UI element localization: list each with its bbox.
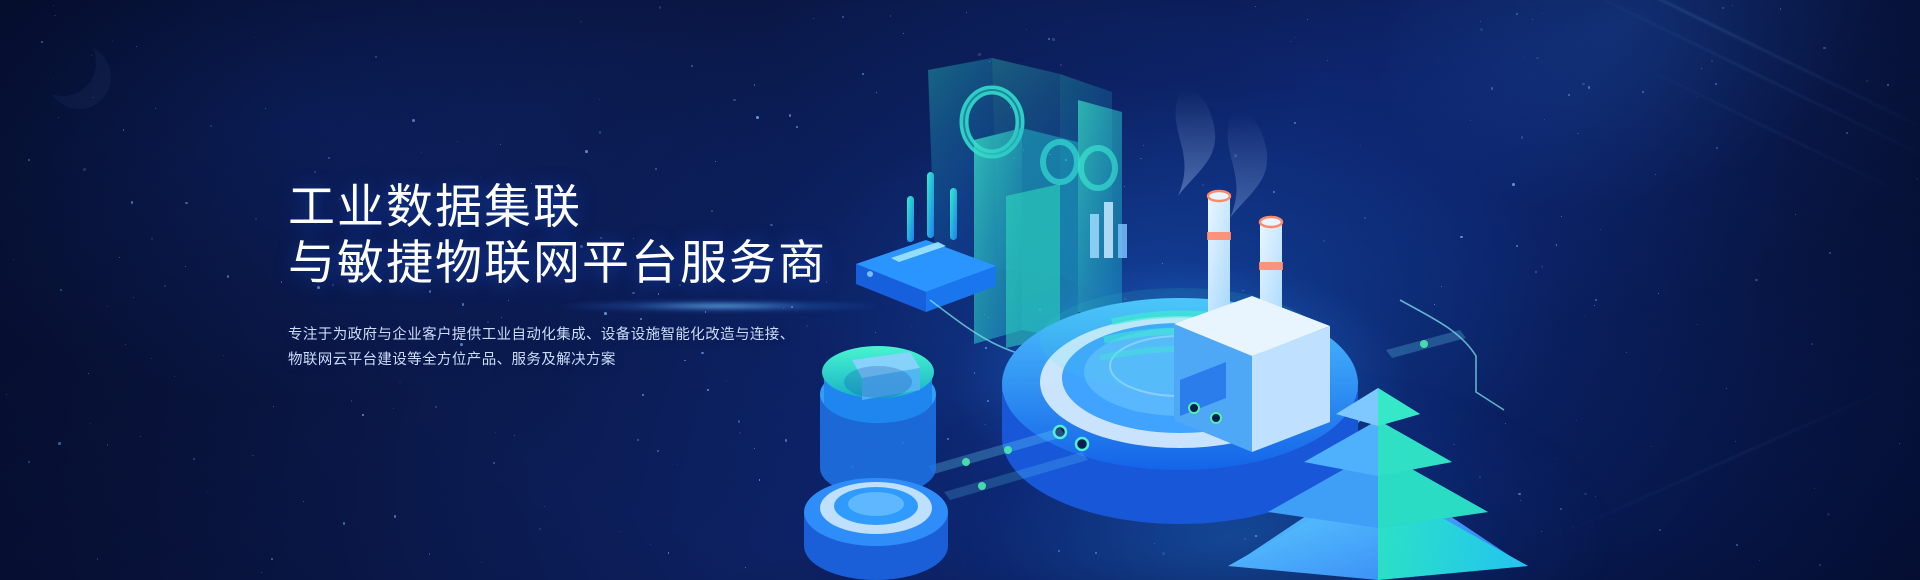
disc-pedestal: [804, 478, 948, 580]
industrial-iot-isometric-illustration: [760, 0, 1920, 580]
headline-line-2: 与敏捷物联网平台服务商: [288, 235, 848, 291]
page-title: 工业数据集联 与敏捷物联网平台服务商: [288, 179, 848, 291]
hero-subtitle: 专注于为政府与企业客户提供工业自动化集成、设备设施智能化改造与连接、 物联网云平…: [288, 323, 848, 373]
hero-banner: 工业数据集联 与敏捷物联网平台服务商 专注于为政府与企业客户提供工业自动化集成、…: [0, 0, 1920, 580]
hero-copy: 工业数据集联 与敏捷物联网平台服务商 专注于为政府与企业客户提供工业自动化集成、…: [288, 148, 848, 387]
crescent-moon-icon: [30, 30, 96, 96]
subtitle-line-1: 专注于为政府与企业客户提供工业自动化集成、设备设施智能化改造与连接、: [288, 323, 848, 348]
subtitle-line-2: 物联网云平台建设等全方位产品、服务及解决方案: [288, 348, 848, 373]
headline-line-1: 工业数据集联: [288, 180, 582, 233]
